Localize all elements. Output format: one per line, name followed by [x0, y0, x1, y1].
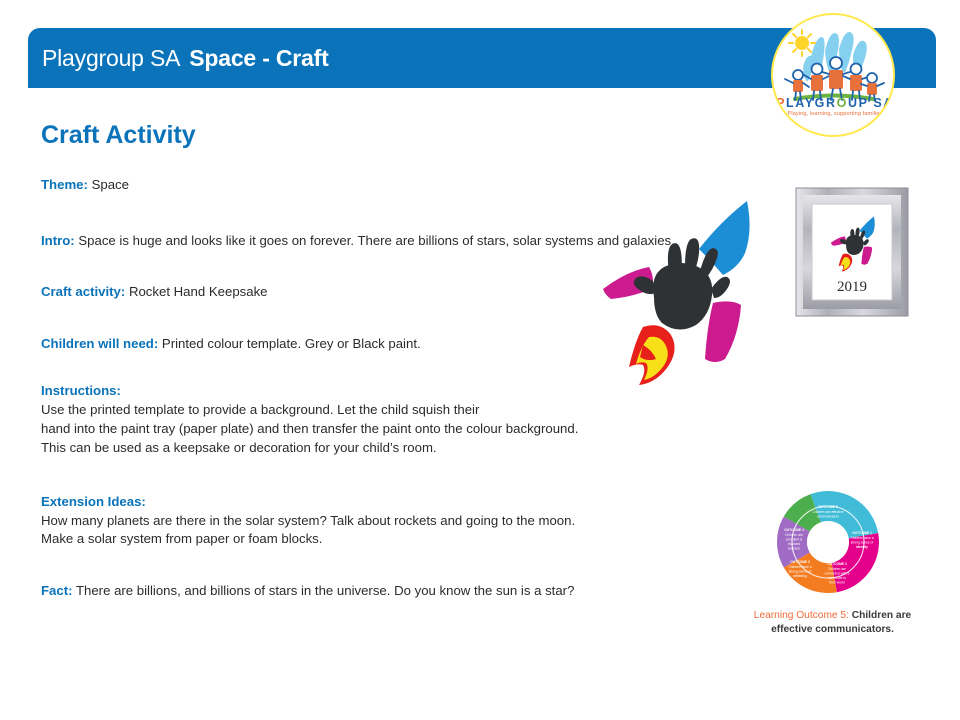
svg-text:strong sense of: strong sense of: [789, 570, 812, 574]
theme-value: Space: [92, 177, 129, 192]
rocket-fin-right-icon: [705, 301, 741, 362]
svg-text:OUTCOME 4: OUTCOME 4: [784, 528, 804, 532]
svg-text:OUTCOME 5: OUTCOME 5: [818, 505, 838, 509]
svg-text:communicators: communicators: [817, 515, 840, 519]
svg-text:OUTCOME 3: OUTCOME 3: [790, 560, 810, 564]
rocket-artwork: [597, 193, 769, 385]
logo-wordmark-p: P: [776, 96, 786, 110]
logo-tagline: Playing, learning, supporting families: [773, 112, 895, 118]
extension-ideas-label: Extension Ideas:: [41, 494, 701, 509]
craft-activity-label: Craft activity:: [41, 284, 125, 299]
instructions-line-3: This can be used as a keepsake or decora…: [41, 439, 701, 458]
intro-value: Space is huge and looks like it goes on …: [78, 233, 674, 248]
learning-outcome-label: Learning Outcome 5:: [754, 610, 849, 621]
rocket-handprint-illustration: [597, 193, 769, 385]
svg-text:Children have a: Children have a: [788, 565, 811, 569]
intro-label: Intro:: [41, 233, 75, 248]
svg-text:identity: identity: [856, 545, 868, 549]
svg-text:confident &: confident &: [786, 538, 803, 542]
logo-wordmark-o: O: [837, 96, 848, 110]
svg-text:OUTCOME 1: OUTCOME 1: [852, 531, 872, 535]
svg-text:wellbeing: wellbeing: [793, 574, 807, 578]
svg-text:Children are effective: Children are effective: [812, 510, 843, 514]
picture-frame-artwork: 2019: [793, 186, 911, 318]
page-canvas: Playgroup SA Space - Craft: [0, 0, 960, 720]
section-theme: Theme: Space: [41, 176, 701, 195]
extension-ideas-line-2: Make a solar system from paper or foam b…: [41, 530, 701, 549]
framed-keepsake: 2019: [793, 186, 911, 318]
section-instructions: Instructions: Use the printed template t…: [41, 383, 701, 457]
section-fact: Fact: There are billions, and billions o…: [41, 582, 701, 601]
svg-text:strong sense of: strong sense of: [851, 541, 874, 545]
page-title: Craft Activity: [41, 122, 701, 150]
theme-paragraph: Theme: Space: [41, 176, 701, 195]
header-brand: Playgroup SA: [42, 45, 180, 72]
logo-wordmark-mid2: UP SA: [848, 96, 894, 110]
svg-text:connected with &: connected with &: [824, 572, 850, 576]
sun-icon: [789, 30, 815, 56]
theme-label: Theme:: [41, 177, 88, 192]
instructions-line-2: hand into the paint tray (paper plate) a…: [41, 420, 701, 439]
header-topic: Space - Craft: [189, 45, 328, 72]
instructions-line-1: Use the printed template to provide a ba…: [41, 401, 701, 420]
fact-label: Fact:: [41, 583, 73, 598]
eylf-outcomes-wheel: OUTCOME 5 Children are effective communi…: [769, 489, 887, 595]
section-extension-ideas: Extension Ideas: How many planets are th…: [41, 494, 701, 549]
svg-text:Children are: Children are: [785, 533, 803, 537]
svg-text:Children are: Children are: [828, 567, 846, 571]
logo-wordmark: PLAYGROUP SA: [773, 97, 895, 110]
fact-value: There are billions, and billions of star…: [76, 583, 574, 598]
svg-text:their world: their world: [829, 581, 844, 585]
header-title: Playgroup SA Space - Craft: [42, 28, 329, 88]
svg-text:learners: learners: [788, 547, 800, 551]
svg-text:contribute to: contribute to: [828, 576, 846, 580]
wheel-hub: [807, 521, 849, 563]
frame-year-label: 2019: [837, 279, 867, 295]
craft-activity-value: Rocket Hand Keepsake: [129, 284, 268, 299]
svg-text:involved: involved: [788, 542, 800, 546]
svg-text:Children have a: Children have a: [850, 536, 873, 540]
children-will-need-label: Children will need:: [41, 336, 158, 351]
children-will-need-value: Printed colour template. Grey or Black p…: [162, 336, 421, 351]
playgroup-sa-logo: PLAYGROUP SA Playing, learning, supporti…: [771, 13, 895, 137]
learning-outcome-caption: Learning Outcome 5: Children are effecti…: [735, 609, 930, 637]
outcomes-wheel-artwork: OUTCOME 5 Children are effective communi…: [769, 489, 887, 595]
svg-text:OUTCOME 2: OUTCOME 2: [827, 562, 847, 566]
fact-paragraph: Fact: There are billions, and billions o…: [41, 582, 701, 601]
logo-wordmark-mid1: LAYGR: [786, 96, 837, 110]
extension-ideas-line-1: How many planets are there in the solar …: [41, 512, 701, 531]
instructions-label: Instructions:: [41, 383, 701, 398]
